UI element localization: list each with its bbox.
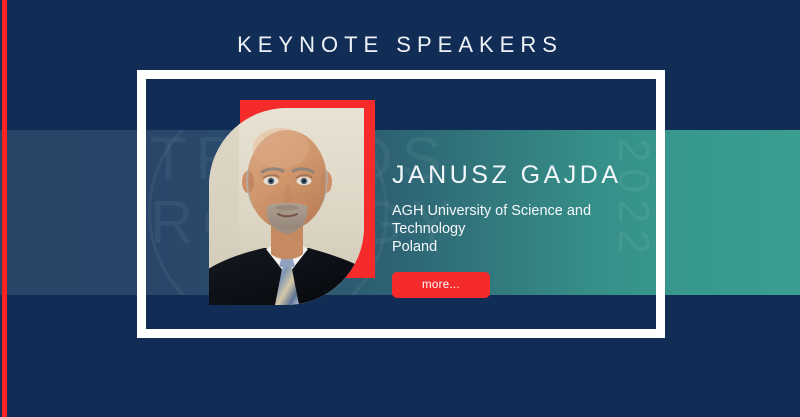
left-red-accent-stripe [2, 0, 7, 417]
portrait-illustration [209, 108, 364, 305]
speaker-photo [209, 108, 364, 305]
speaker-affiliation-institution: AGH University of Science and Technology [392, 203, 591, 237]
speaker-affiliation-country: Poland [392, 239, 437, 255]
speaker-name: JANUSZ GAJDA [392, 160, 662, 190]
more-button[interactable]: more... [392, 272, 490, 298]
keynote-speaker-slide: TRENDS ROLOGY 2022 KEYNOTE SPEAKERS [0, 0, 800, 417]
speaker-affiliation: AGH University of Science and Technology… [392, 202, 648, 256]
page-title: KEYNOTE SPEAKERS [0, 32, 800, 58]
speaker-info: JANUSZ GAJDA AGH University of Science a… [392, 160, 662, 298]
